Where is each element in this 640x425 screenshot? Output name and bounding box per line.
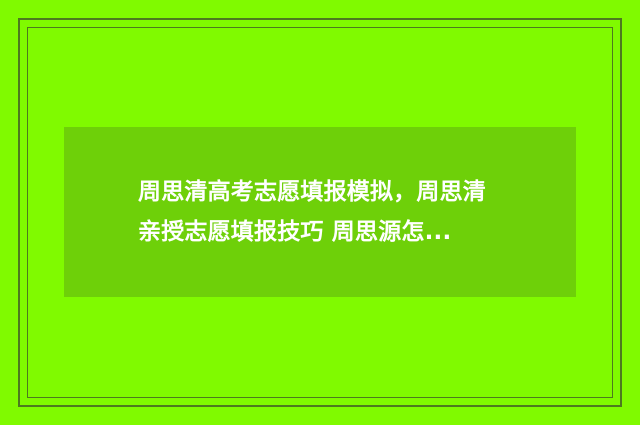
thumbnail-canvas: 周思清高考志愿填报模拟，周思清 亲授志愿填报技巧 周思源怎... <box>0 0 640 425</box>
caption-title: 周思清高考志愿填报模拟，周思清 亲授志愿填报技巧 周思源怎... <box>138 172 486 252</box>
caption-panel: 周思清高考志愿填报模拟，周思清 亲授志愿填报技巧 周思源怎... <box>64 127 576 297</box>
